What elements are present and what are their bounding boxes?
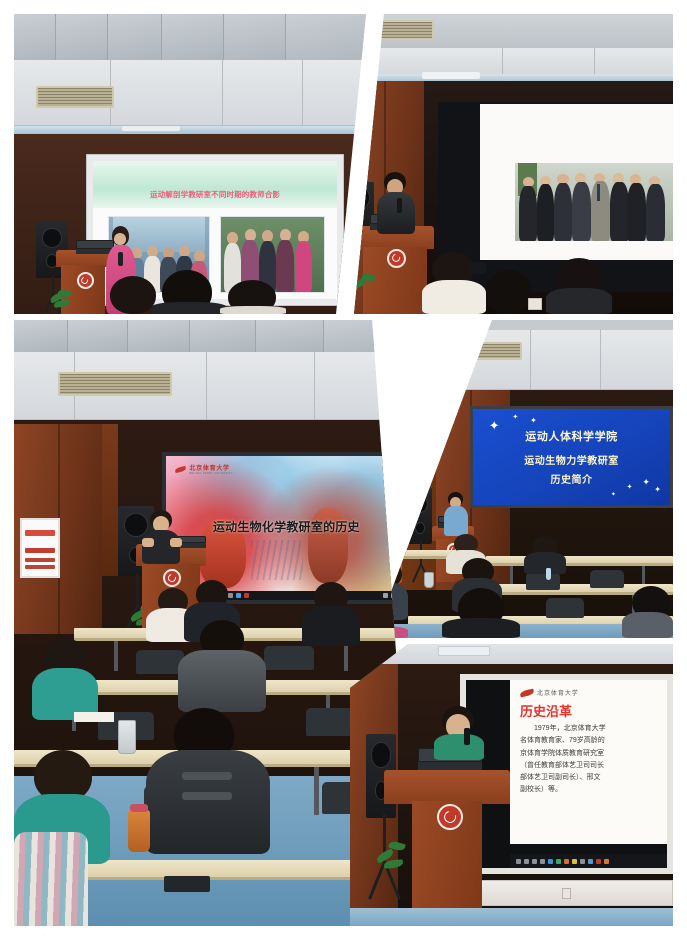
slide-body-line: 1979年，北京体育大学 xyxy=(520,723,661,735)
university-logo: 北京体育大学 BEIJING SPORT UNIVERSITY xyxy=(175,463,232,475)
logo-text: 北京体育大学 xyxy=(189,463,232,472)
photo-panel-top-right[interactable] xyxy=(350,14,673,314)
slide-title: 运动生物化学教研室的历史 xyxy=(175,518,397,535)
slide-line-2: 运动生物力学教研室 xyxy=(524,452,619,467)
slide-body-line: 部体艺卫司副司长）、邢文 xyxy=(520,772,661,784)
slide-group-photo xyxy=(480,104,673,260)
podium xyxy=(384,770,510,926)
air-vent xyxy=(36,86,114,108)
logo-subtext: BEIJING SPORT UNIVERSITY xyxy=(189,472,232,475)
slide-body-line: 副校长）等。 xyxy=(520,784,661,796)
university-emblem xyxy=(387,249,406,268)
slide-body-line: （曾任教育部体艺卫司司长 xyxy=(520,760,661,772)
slide-line-1: 运动人体科学学院 xyxy=(525,428,617,444)
slide-history-evolution: 北京体育大学 历史沿革 1979年，北京体育大学 名体育教育家、79岁高龄的 京… xyxy=(510,680,667,844)
taskbar[interactable] xyxy=(510,854,667,868)
air-vent xyxy=(58,372,172,396)
university-emblem xyxy=(77,272,94,289)
projection-screen: ✦ ✦ ✦ ✦ ✦ ✦ ✦ 运动人体科学学院 运动生物力学教研室 历史简介 xyxy=(470,406,673,508)
slide-body-line: 京体育学院体质教育研究室 xyxy=(520,748,661,760)
photo-panel-top-left[interactable]: 运动解剖学教研室不同时期的教师合影 xyxy=(14,14,380,314)
collage-stage: 运动解剖学教研室不同时期的教师合影 xyxy=(14,14,673,926)
photo-panel-mid-right[interactable]: ✦ ✦ ✦ ✦ ✦ ✦ ✦ 运动人体科学学院 运动生物力学教研室 历史简介 xyxy=(350,320,673,638)
university-logo: 北京体育大学 xyxy=(520,688,661,697)
slide-title: 历史沿革 xyxy=(520,701,661,720)
university-emblem xyxy=(163,569,181,587)
slide-line-3: 历史简介 xyxy=(551,471,593,486)
slide-title: 运动解剖学教研室不同时期的教师合影 xyxy=(93,189,337,200)
photo-panel-bottom-left[interactable]: 北京体育大学 BEIJING SPORT UNIVERSITY 运动生物化学教研… xyxy=(14,320,406,926)
slide-body: 1979年，北京体育大学 名体育教育家、79岁高龄的 京体育学院体质教育研究室 … xyxy=(520,723,661,797)
slide-body-line: 名体育教育家、79岁高龄的 xyxy=(520,735,661,747)
logo-text: 北京体育大学 xyxy=(537,688,579,697)
fire-extinguisher-poster xyxy=(20,518,60,578)
photo-panel-bottom-right[interactable]: 北京体育大学 历史沿革 1979年，北京体育大学 名体育教育家、79岁高龄的 京… xyxy=(350,644,673,926)
photo-collage: 运动解剖学教研室不同时期的教师合影 xyxy=(0,0,687,942)
slide-blue-title: ✦ ✦ ✦ ✦ ✦ ✦ ✦ 运动人体科学学院 运动生物力学教研室 历史简介 xyxy=(473,409,670,505)
potted-plant xyxy=(48,290,76,314)
